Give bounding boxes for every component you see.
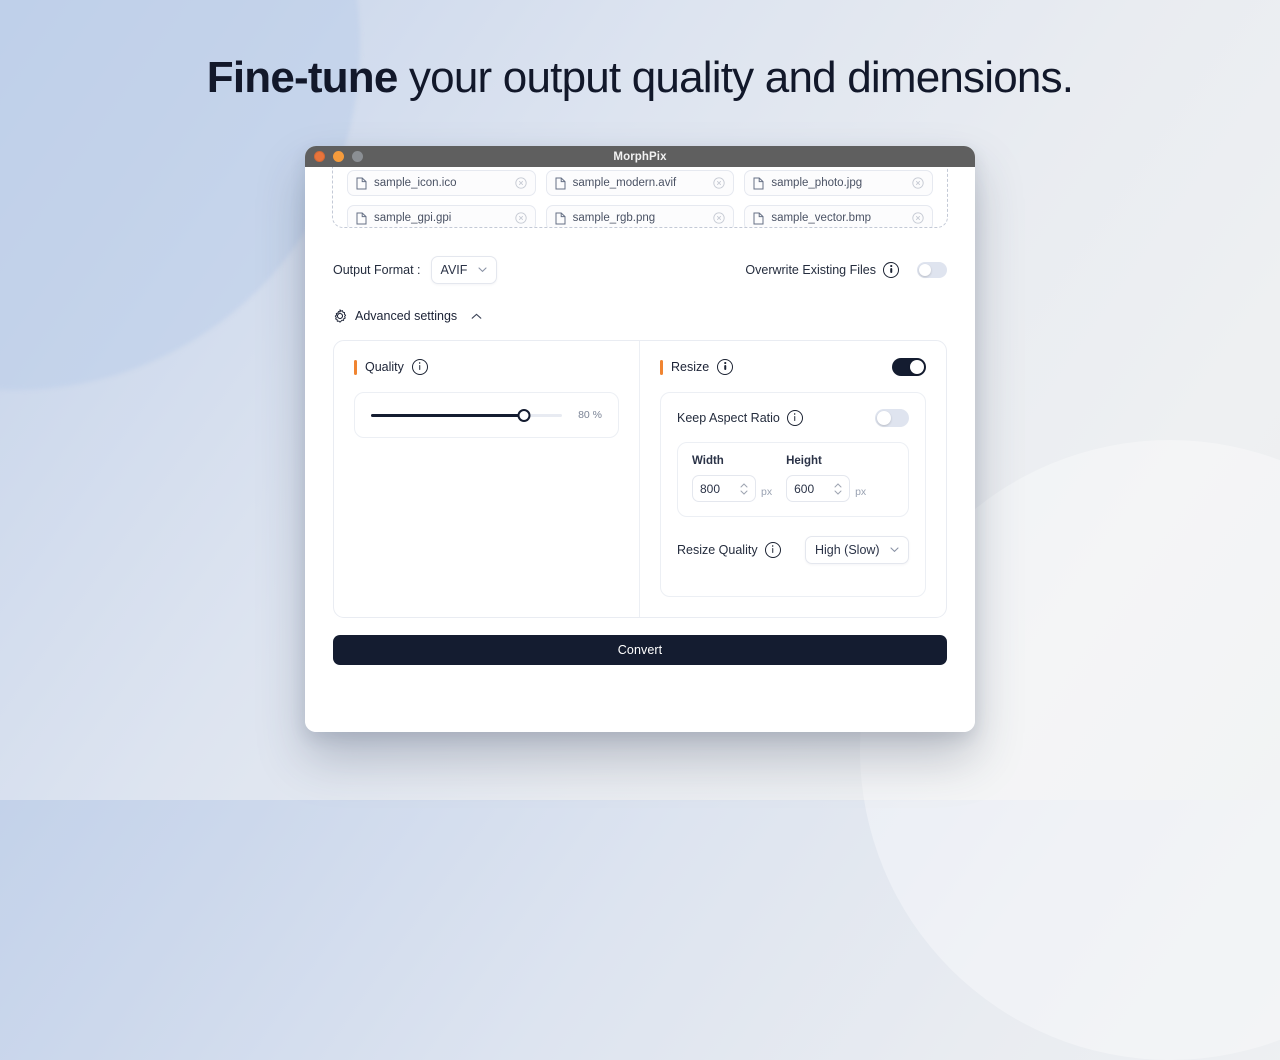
remove-file-icon[interactable] (713, 212, 725, 224)
window-controls (314, 146, 363, 167)
file-name: sample_icon.ico (374, 177, 508, 189)
overwrite-toggle[interactable] (917, 262, 947, 278)
page-title-strong: Fine-tune (207, 53, 398, 102)
info-icon[interactable] (883, 262, 899, 278)
output-format-row: Output Format : AVIF Overwrite Existing … (333, 255, 947, 285)
file-chip[interactable]: sample_vector.bmp (744, 205, 933, 228)
file-chip[interactable]: sample_icon.ico (347, 170, 536, 196)
file-name: sample_rgb.png (573, 212, 707, 224)
file-name: sample_gpi.gpi (374, 212, 508, 224)
quality-value: 80 % (574, 409, 602, 421)
dimensions-card: Width 800 px (677, 442, 909, 517)
toggle-knob (910, 360, 924, 374)
output-format-label: Output Format : (333, 263, 421, 277)
resize-title: Resize (671, 360, 709, 374)
stepper-up-icon[interactable] (740, 483, 748, 488)
height-input-wrap: 600 px (786, 475, 866, 502)
remove-file-icon[interactable] (912, 212, 924, 224)
remove-file-icon[interactable] (912, 177, 924, 189)
convert-button[interactable]: Convert (333, 635, 947, 665)
width-label: Width (692, 455, 772, 467)
close-window-icon[interactable] (314, 151, 325, 162)
zoom-window-icon[interactable] (352, 151, 363, 162)
remove-file-icon[interactable] (713, 177, 725, 189)
info-icon[interactable] (787, 410, 803, 426)
info-icon[interactable] (412, 359, 428, 375)
document-icon (753, 177, 764, 190)
quality-slider-card: 80 % (354, 392, 619, 438)
info-icon[interactable] (717, 359, 733, 375)
advanced-settings-header[interactable]: Advanced settings (333, 306, 947, 326)
resize-quality-row: Resize Quality High (Slow) (677, 535, 909, 565)
resize-panel-header: Resize (660, 358, 926, 376)
remove-file-icon[interactable] (515, 212, 527, 224)
file-chip-grid: sample_icon.ico sample_modern.avif sampl… (347, 170, 933, 228)
page-title-rest: your output quality and dimensions. (398, 53, 1074, 102)
document-icon (356, 212, 367, 225)
stepper-up-icon[interactable] (834, 483, 842, 488)
resize-quality-select[interactable]: High (Slow) (805, 536, 909, 564)
toggle-knob (877, 411, 891, 425)
overwrite-label: Overwrite Existing Files (745, 263, 876, 277)
output-format-select[interactable]: AVIF (431, 256, 497, 284)
toggle-knob (919, 264, 931, 276)
resize-quality-label: Resize Quality (677, 543, 758, 557)
minimize-window-icon[interactable] (333, 151, 344, 162)
file-chip[interactable]: sample_modern.avif (546, 170, 735, 196)
file-name: sample_modern.avif (573, 177, 707, 189)
gear-icon (333, 309, 347, 323)
height-field-group: Height 600 px (786, 455, 866, 502)
height-stepper[interactable] (834, 483, 842, 495)
width-field-group: Width 800 px (692, 455, 772, 502)
document-icon (356, 177, 367, 190)
width-unit: px (761, 486, 772, 502)
stepper-down-icon[interactable] (834, 490, 842, 495)
slider-track-fill (371, 414, 524, 417)
document-icon (753, 212, 764, 225)
width-stepper[interactable] (740, 483, 748, 495)
file-chip[interactable]: sample_rgb.png (546, 205, 735, 228)
remove-file-icon[interactable] (515, 177, 527, 189)
info-icon[interactable] (765, 542, 781, 558)
file-name: sample_photo.jpg (771, 177, 905, 189)
resize-settings-card: Keep Aspect Ratio Width 800 (660, 392, 926, 597)
width-input[interactable]: 800 (692, 475, 756, 502)
advanced-settings-label: Advanced settings (355, 309, 457, 323)
accent-bar (660, 360, 663, 375)
convert-button-label: Convert (618, 643, 662, 657)
height-value: 600 (794, 482, 814, 496)
width-value: 800 (700, 482, 720, 496)
keep-aspect-ratio-toggle[interactable] (875, 409, 909, 427)
keep-aspect-ratio-label: Keep Aspect Ratio (677, 411, 780, 425)
slider-thumb[interactable] (517, 409, 530, 422)
file-name: sample_vector.bmp (771, 212, 905, 224)
document-icon (555, 212, 566, 225)
resize-panel: Resize Keep Aspect Ratio Width (640, 341, 946, 617)
width-input-wrap: 800 px (692, 475, 772, 502)
quality-panel: Quality 80 % (334, 341, 640, 617)
app-window: MorphPix sample_icon.ico sample_modern.a… (305, 146, 975, 732)
window-titlebar[interactable]: MorphPix (305, 146, 975, 167)
height-label: Height (786, 455, 866, 467)
advanced-settings-panels: Quality 80 % Resize (333, 340, 947, 618)
file-chip[interactable]: sample_gpi.gpi (347, 205, 536, 228)
quality-title: Quality (365, 360, 404, 374)
file-dropzone[interactable]: sample_icon.ico sample_modern.avif sampl… (332, 167, 948, 228)
page-title: Fine-tune your output quality and dimens… (0, 52, 1280, 104)
window-title: MorphPix (305, 151, 975, 163)
quality-panel-header: Quality (354, 358, 619, 376)
chevron-down-icon (478, 267, 487, 273)
height-unit: px (855, 486, 866, 502)
height-input[interactable]: 600 (786, 475, 850, 502)
resize-quality-value: High (Slow) (815, 543, 880, 557)
chevron-down-icon (890, 547, 899, 553)
resize-toggle[interactable] (892, 358, 926, 376)
output-format-value: AVIF (441, 263, 468, 277)
document-icon (555, 177, 566, 190)
quality-slider[interactable] (371, 408, 562, 422)
chevron-up-icon[interactable] (471, 313, 482, 320)
accent-bar (354, 360, 357, 375)
stepper-down-icon[interactable] (740, 490, 748, 495)
file-chip[interactable]: sample_photo.jpg (744, 170, 933, 196)
window-content: sample_icon.ico sample_modern.avif sampl… (305, 167, 975, 732)
keep-aspect-ratio-row: Keep Aspect Ratio (677, 408, 909, 428)
